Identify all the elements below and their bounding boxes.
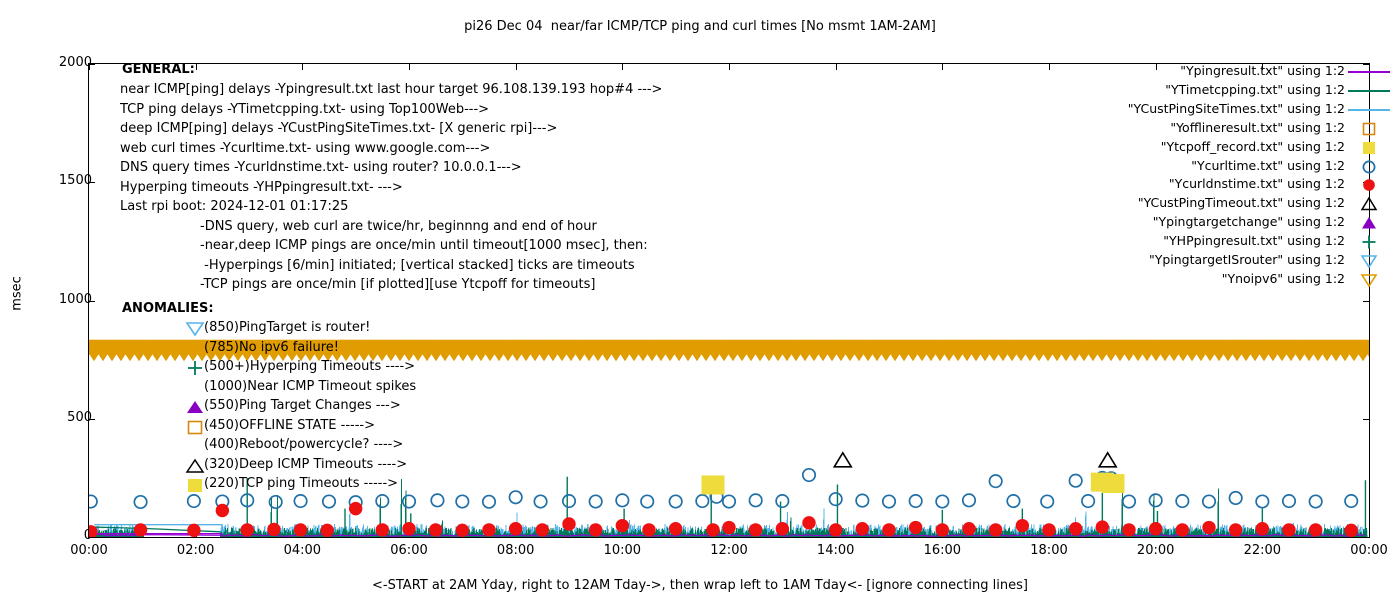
marker-ycurldnstime <box>909 521 921 533</box>
legend-label: "YCustPingSiteTimes.txt" using 1:2 <box>985 101 1345 116</box>
open-triangle-down-icon <box>186 341 204 357</box>
marker-ycurltime <box>483 496 495 508</box>
marker-ycurltime <box>188 495 200 507</box>
marker-ycustpingtimeout <box>1099 453 1116 467</box>
marker-ycurltime <box>963 494 975 506</box>
marker-ycurltime <box>88 495 97 507</box>
anomaly-label: (1000)Near ICMP Timeout spikes <box>204 379 416 394</box>
marker-ycurldnstime <box>88 526 97 538</box>
no-icon <box>186 380 204 396</box>
marker-ycurldnstime <box>1309 524 1321 536</box>
legend-label: "YTimetcpping.txt" using 1:2 <box>985 82 1345 97</box>
marker-ycurltime <box>616 494 628 506</box>
open-triangle-down-icon <box>186 321 204 337</box>
marker-ycurltime <box>534 495 546 507</box>
marker-ycurldnstime <box>1016 519 1028 531</box>
general-line: web curl times -Ycurltime.txt- using www… <box>120 141 490 156</box>
legend-open-circle-icon <box>1348 160 1390 172</box>
marker-ycurldnstime <box>294 524 306 536</box>
x-tick-label: 00:00 <box>1334 543 1400 558</box>
anomaly-label: (850)PingTarget is router! <box>204 320 370 335</box>
marker-ycurltime <box>1069 475 1081 487</box>
general-line: near ICMP[ping] delays -Ypingresult.txt … <box>120 82 662 97</box>
marker-ycurldnstime <box>936 524 948 536</box>
marker-ycurldnstime <box>669 523 681 535</box>
x-tick-label: 02:00 <box>161 543 231 558</box>
anomaly-label: (450)OFFLINE STATE -----> <box>204 418 375 433</box>
legend-label: "Ycurldnstime.txt" using 1:2 <box>985 176 1345 191</box>
marker-ycurldnstime <box>1096 521 1108 533</box>
marker-ycurltime <box>989 475 1001 487</box>
general-line: Hyperping timeouts -YHPpingresult.txt- -… <box>120 180 403 195</box>
marker-ycurltime <box>776 495 788 507</box>
marker-ycurldnstime <box>1283 524 1295 536</box>
marker-ycurltime <box>829 493 841 505</box>
marker-ycurldnstime <box>429 524 441 536</box>
marker-ycurldnstime <box>803 517 815 529</box>
marker-ycurltime <box>856 494 868 506</box>
general-indent-line: -near,deep ICMP pings are once/min until… <box>200 238 648 253</box>
marker-ycurltime <box>134 496 146 508</box>
marker-ycurltime <box>1345 495 1357 507</box>
marker-ycurltime <box>1309 495 1321 507</box>
marker-ycurltime <box>376 495 388 507</box>
filled-square-icon <box>186 477 204 493</box>
general-indent-line: -DNS query, web curl are twice/hr, begin… <box>200 219 597 234</box>
y-tick-label: 1500 <box>32 173 92 188</box>
marker-ycurldnstime <box>883 524 895 536</box>
marker-ycurldnstime <box>1203 521 1215 533</box>
marker-ycurltime <box>696 495 708 507</box>
marker-ycurldnstime <box>963 523 975 535</box>
marker-ycurldnstime <box>1043 524 1055 536</box>
marker-ycurltime <box>1082 495 1094 507</box>
chart-canvas: pi26 Dec 04 near/far ICMP/TCP ping and c… <box>0 0 1400 600</box>
legend-open-triangle-down-icon <box>1348 273 1390 285</box>
marker-ycurltime <box>294 495 306 507</box>
marker-ycurldnstime <box>616 519 628 531</box>
y-tick-label: 1000 <box>32 292 92 307</box>
legend-label: "Ypingresult.txt" using 1:2 <box>985 63 1345 78</box>
filled-triangle-up-icon <box>186 399 204 415</box>
marker-ycurltime <box>456 495 468 507</box>
plus-icon <box>186 360 204 376</box>
legend-label: "YHPpingresult.txt" using 1:2 <box>985 233 1345 248</box>
marker-ycurldnstime <box>1229 524 1241 536</box>
marker-ycurltime <box>883 495 895 507</box>
marker-ycurldnstime <box>563 518 575 530</box>
legend-label: "Ycurltime.txt" using 1:2 <box>985 158 1345 173</box>
marker-ycurldnstime <box>376 524 388 536</box>
marker-ycurltime <box>723 495 735 507</box>
marker-ycurltime <box>403 495 415 507</box>
marker-ycustpingtimeout <box>834 453 851 467</box>
x-tick-label: 14:00 <box>801 543 871 558</box>
general-indent-line: -Hyperpings [6/min] initiated; [vertical… <box>200 258 635 273</box>
marker-ycurltime <box>1123 495 1135 507</box>
marker-ycurldnstime <box>829 524 841 536</box>
open-triangle-up-icon <box>186 458 204 474</box>
marker-ycurltime <box>749 494 761 506</box>
x-tick-label: 00:00 <box>54 543 124 558</box>
marker-ycurldnstime <box>1069 523 1081 535</box>
marker-ycurltime <box>669 495 681 507</box>
marker-ycurldnstime <box>707 524 719 536</box>
marker-ycurldnstime <box>989 524 1001 536</box>
legend-filled-circle-icon <box>1348 178 1390 190</box>
x-tick-label: 16:00 <box>907 543 977 558</box>
legend-filled-square-icon <box>1348 141 1390 153</box>
marker-ycurldnstime <box>241 524 253 536</box>
legend-open-triangle-down-icon <box>1348 254 1390 266</box>
marker-ycurltime <box>641 495 653 507</box>
x-tick-label: 08:00 <box>481 543 551 558</box>
legend-label: "YCustPingTimeout.txt" using 1:2 <box>985 195 1345 210</box>
anomaly-label: (220)TCP ping Timeouts -----> <box>204 476 398 491</box>
marker-ycurltime <box>1203 495 1215 507</box>
marker-ycurldnstime <box>349 502 361 514</box>
anomaly-label: (320)Deep ICMP Timeouts ----> <box>204 457 407 472</box>
marker-ycurldnstime <box>723 521 735 533</box>
marker-ycurldnstime <box>749 524 761 536</box>
marker-ycurldnstime <box>483 524 495 536</box>
y-tick-label: 0 <box>32 528 92 543</box>
anomaly-label: (400)Reboot/powercycle? ----> <box>204 437 403 452</box>
x-tick-label: 12:00 <box>694 543 764 558</box>
marker-ytcpoff <box>1102 475 1124 493</box>
marker-ycurltime <box>936 495 948 507</box>
general-line: DNS query times -Ycurldnstime.txt- using… <box>120 160 522 175</box>
marker-ycurldnstime <box>321 524 333 536</box>
marker-ycurldnstime <box>134 524 146 536</box>
x-tick-label: 20:00 <box>1121 543 1191 558</box>
general-line: Last rpi boot: 2024-12-01 01:17:25 <box>120 199 348 214</box>
legend-plus-icon <box>1348 235 1390 247</box>
marker-ycurldnstime <box>1256 523 1268 535</box>
marker-ycurldnstime <box>216 504 228 516</box>
legend-line-swatch <box>1348 71 1390 73</box>
marker-ycurldnstime <box>1176 524 1188 536</box>
marker-ycurldnstime <box>509 523 521 535</box>
marker-ycurltime <box>1256 495 1268 507</box>
marker-ycurldnstime <box>856 523 868 535</box>
anomaly-label: (500+)Hyperping Timeouts ----> <box>204 359 415 374</box>
marker-ycurltime <box>803 469 815 481</box>
x-tick-label: 22:00 <box>1227 543 1297 558</box>
legend-open-triangle-up-icon <box>1348 197 1390 209</box>
marker-ycurltime <box>1229 492 1241 504</box>
legend-label: "Yofflineresult.txt" using 1:2 <box>985 120 1345 135</box>
marker-ycurldnstime <box>1345 524 1357 536</box>
marker-ycurldnstime <box>268 523 280 535</box>
general-line: deep ICMP[ping] delays -YCustPingSiteTim… <box>120 121 557 136</box>
y-tick-label: 500 <box>32 410 92 425</box>
marker-ycurltime <box>589 495 601 507</box>
legend-line-swatch <box>1348 90 1390 92</box>
legend-line-swatch <box>1348 109 1390 111</box>
marker-ycurltime <box>1007 495 1019 507</box>
open-square-icon <box>186 419 204 435</box>
marker-ycurldnstime <box>1149 523 1161 535</box>
marker-ycurltime <box>509 491 521 503</box>
chart-title: pi26 Dec 04 near/far ICMP/TCP ping and c… <box>0 19 1400 34</box>
marker-ycurldnstime <box>776 523 788 535</box>
marker-ycurltime <box>909 495 921 507</box>
legend-label: "Ypingtargetchange" using 1:2 <box>985 214 1345 229</box>
general-heading: GENERAL: <box>122 62 195 77</box>
y-tick-label: 2000 <box>32 55 92 70</box>
anomalies-heading: ANOMALIES: <box>122 301 214 316</box>
marker-ycurldnstime <box>456 524 468 536</box>
x-tick-label: 04:00 <box>267 543 337 558</box>
legend-open-square-icon <box>1348 122 1390 134</box>
y-axis-label: msec <box>10 264 25 324</box>
x-tick-label: 10:00 <box>587 543 657 558</box>
anomaly-label: (550)Ping Target Changes ---> <box>204 398 401 413</box>
x-tick-label: 06:00 <box>374 543 444 558</box>
marker-ycurldnstime <box>403 523 415 535</box>
marker-ycurltime <box>1176 495 1188 507</box>
marker-ycurldnstime <box>589 524 601 536</box>
marker-ycurltime <box>431 494 443 506</box>
marker-ycurldnstime <box>643 524 655 536</box>
marker-ycurltime <box>1041 495 1053 507</box>
general-indent-line: -TCP pings are once/min [if plotted][use… <box>200 277 595 292</box>
legend-label: "YpingtargetISrouter" using 1:2 <box>985 252 1345 267</box>
marker-ycurltime <box>1149 494 1161 506</box>
x-axis-label: <-START at 2AM Yday, right to 12AM Tday-… <box>0 578 1400 593</box>
marker-ycurltime <box>1283 495 1295 507</box>
marker-ycurldnstime <box>536 524 548 536</box>
marker-ycurldnstime <box>188 524 200 536</box>
marker-ytcpoff <box>702 476 724 494</box>
marker-ycurldnstime <box>1123 524 1135 536</box>
legend-label: "Ytcpoff_record.txt" using 1:2 <box>985 139 1345 154</box>
x-tick-label: 18:00 <box>1014 543 1084 558</box>
marker-ycurltime <box>323 495 335 507</box>
marker-ycurltime <box>563 495 575 507</box>
legend-filled-triangle-up-icon <box>1348 216 1390 228</box>
general-line: TCP ping delays -YTimetcpping.txt- using… <box>120 102 489 117</box>
anomaly-label: (785)No ipv6 failure! <box>204 340 339 355</box>
no-icon <box>186 438 204 454</box>
legend-label: "Ynoipv6" using 1:2 <box>985 271 1345 286</box>
